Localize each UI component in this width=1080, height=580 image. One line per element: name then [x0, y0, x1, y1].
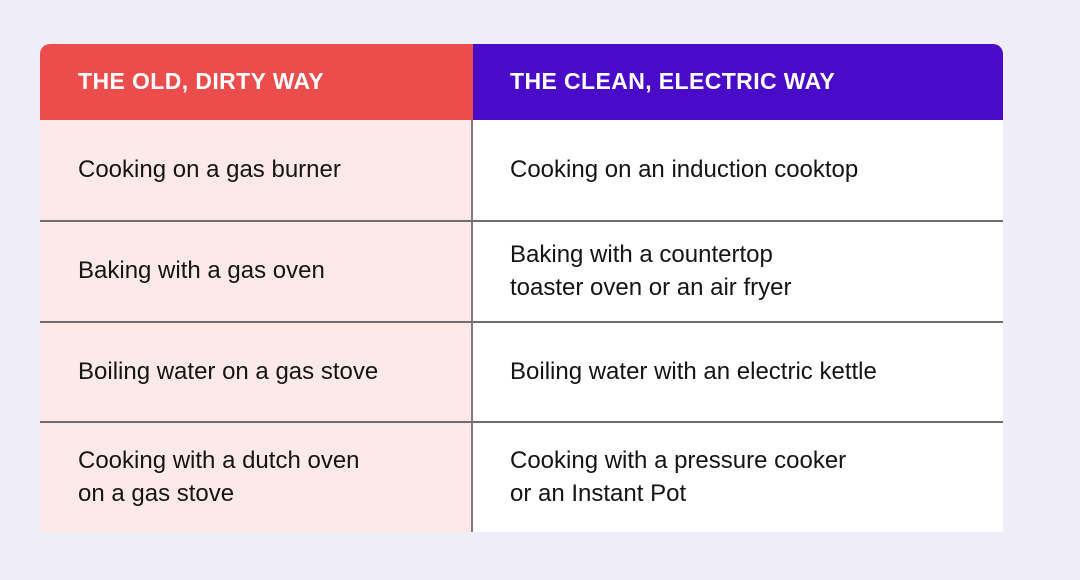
page-canvas: THE OLD, DIRTY WAY THE CLEAN, ELECTRIC W…	[0, 0, 1080, 580]
table-header-row: THE OLD, DIRTY WAY THE CLEAN, ELECTRIC W…	[40, 44, 1003, 120]
cell-text-old: Cooking with a dutch oven on a gas stove	[78, 445, 360, 510]
cell-text-clean: Cooking with a pressure cooker or an Ins…	[510, 445, 846, 510]
table-cell-clean: Cooking with a pressure cooker or an Ins…	[473, 421, 1003, 532]
table-body: Cooking on a gas burner Cooking on an in…	[40, 120, 1003, 532]
table-row: Baking with a gas oven Baking with a cou…	[40, 220, 1003, 321]
table-cell-old: Baking with a gas oven	[40, 220, 473, 321]
table-row: Cooking with a dutch oven on a gas stove…	[40, 421, 1003, 532]
comparison-table: THE OLD, DIRTY WAY THE CLEAN, ELECTRIC W…	[40, 44, 1003, 532]
header-cell-clean-electric-way: THE CLEAN, ELECTRIC WAY	[473, 44, 1003, 120]
header-label-old-dirty-way: THE OLD, DIRTY WAY	[78, 69, 324, 94]
table-cell-old: Cooking on a gas burner	[40, 120, 473, 220]
table-cell-clean: Baking with a countertop toaster oven or…	[473, 220, 1003, 321]
table-cell-clean: Cooking on an induction cooktop	[473, 120, 1003, 220]
header-cell-old-dirty-way: THE OLD, DIRTY WAY	[40, 44, 473, 120]
cell-text-old: Baking with a gas oven	[78, 255, 325, 287]
cell-text-clean: Baking with a countertop toaster oven or…	[510, 239, 791, 304]
table-cell-old: Boiling water on a gas stove	[40, 321, 473, 421]
table-row: Cooking on a gas burner Cooking on an in…	[40, 120, 1003, 220]
cell-text-old: Boiling water on a gas stove	[78, 356, 378, 388]
cell-text-clean: Cooking on an induction cooktop	[510, 154, 858, 186]
cell-text-clean: Boiling water with an electric kettle	[510, 356, 877, 388]
table-cell-old: Cooking with a dutch oven on a gas stove	[40, 421, 473, 532]
table-row: Boiling water on a gas stove Boiling wat…	[40, 321, 1003, 421]
cell-text-old: Cooking on a gas burner	[78, 154, 341, 186]
header-label-clean-electric-way: THE CLEAN, ELECTRIC WAY	[510, 69, 835, 94]
table-cell-clean: Boiling water with an electric kettle	[473, 321, 1003, 421]
